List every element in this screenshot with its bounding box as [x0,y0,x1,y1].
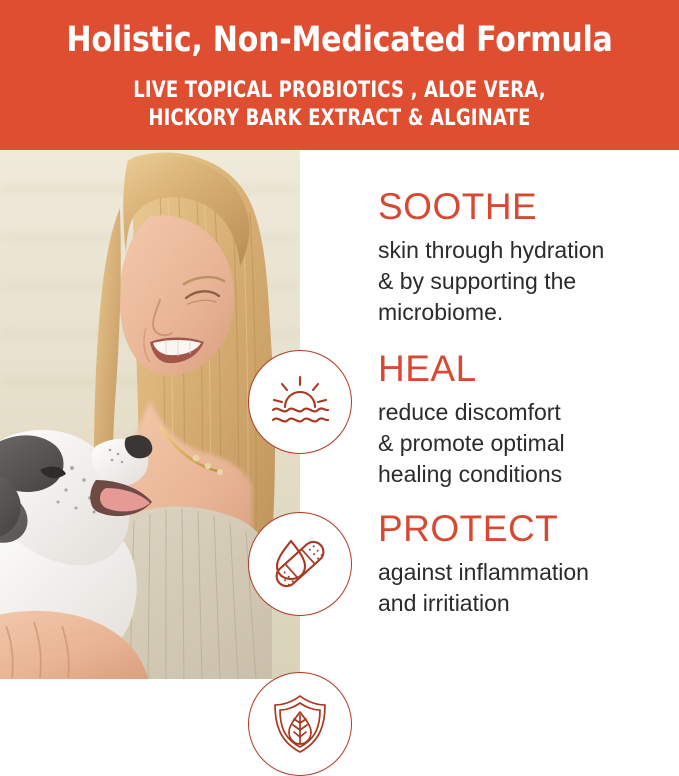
benefit-body: skin through hydration & by supporting t… [378,235,604,328]
benefit-heading: HEAL [378,350,477,387]
header-subtitle-line-1: LIVE TOPICAL PROBIOTICS , ALOE VERA, [61,78,618,103]
benefit-body: reduce discomfort & promote optimal heal… [378,397,565,490]
header-subtitle-line-2: HICKORY BARK EXTRACT & ALGINATE [61,106,618,131]
benefit-heading: PROTECT [378,510,558,547]
sun-over-water-icon [248,350,352,454]
benefit-body: against inflammation and irritiation [378,557,589,619]
benefit-heading: SOOTHE [378,188,537,225]
shield-leaf-icon [248,672,352,776]
bandage-droplet-icon [248,512,352,616]
page-title: Holistic, Non-Medicated Formula [48,20,632,60]
benefits-panel: SOOTHE skin through hydration & by suppo… [300,150,679,679]
header-banner: Holistic, Non-Medicated Formula LIVE TOP… [0,0,679,150]
